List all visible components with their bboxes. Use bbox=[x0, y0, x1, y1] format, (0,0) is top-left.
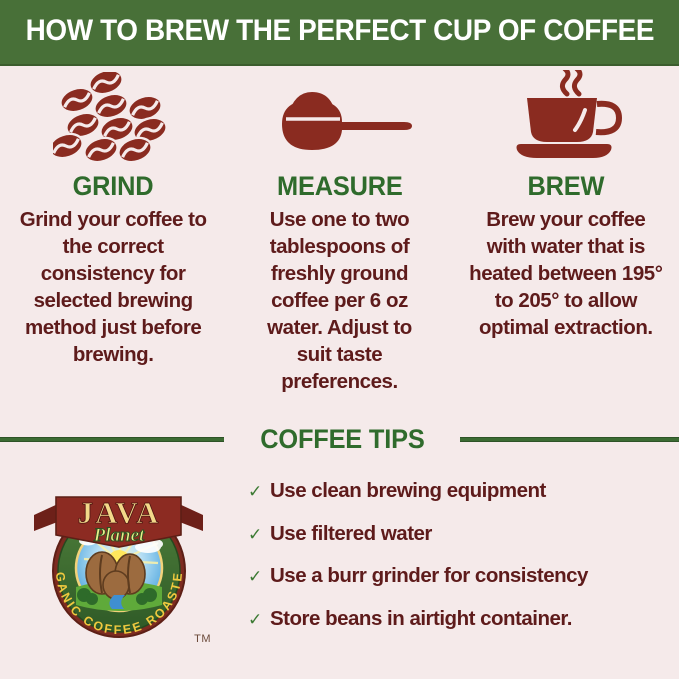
coffee-tips-list: ✓ Use clean brewing equipment ✓ Use filt… bbox=[248, 480, 668, 650]
java-planet-logo: ORGANIC COFFEE ROASTERS JAVA Planet TM bbox=[26, 475, 211, 650]
brew-steps-row: GRIND Grind your coffee to the correct c… bbox=[0, 70, 679, 395]
step-body-measure: Use one to two tablespoons of freshly gr… bbox=[252, 206, 427, 395]
step-measure: MEASURE Use one to two tablespoons of fr… bbox=[226, 70, 452, 395]
tip-text: Use filtered water bbox=[270, 523, 432, 546]
list-item: ✓ Store beans in airtight container. bbox=[248, 608, 668, 631]
logo-brand-script: Planet bbox=[93, 525, 145, 546]
tip-text: Store beans in airtight container. bbox=[270, 608, 572, 631]
check-icon: ✓ bbox=[248, 568, 270, 585]
list-item: ✓ Use clean brewing equipment bbox=[248, 480, 668, 503]
check-icon: ✓ bbox=[248, 611, 270, 628]
trademark-mark: TM bbox=[194, 633, 211, 645]
tip-text: Use a burr grinder for consistency bbox=[270, 565, 588, 588]
header-banner: HOW TO BREW THE PERFECT CUP OF COFFEE bbox=[0, 0, 679, 66]
coffee-cup-icon bbox=[501, 70, 631, 165]
step-body-grind: Grind your coffee to the correct consist… bbox=[11, 206, 216, 368]
tip-text: Use clean brewing equipment bbox=[270, 480, 546, 503]
check-icon: ✓ bbox=[248, 483, 270, 500]
measuring-spoon-icon bbox=[264, 70, 414, 165]
page-title: HOW TO BREW THE PERFECT CUP OF COFFEE bbox=[25, 16, 653, 48]
coffee-tips-title: COFFEE TIPS bbox=[243, 426, 441, 453]
list-item: ✓ Use a burr grinder for consistency bbox=[248, 565, 668, 588]
step-brew: BREW Brew your coffee with water that is… bbox=[453, 70, 679, 341]
coffee-beans-icon bbox=[53, 70, 173, 165]
step-title-brew: BREW bbox=[527, 173, 604, 200]
divider-left bbox=[0, 437, 224, 442]
step-grind: GRIND Grind your coffee to the correct c… bbox=[0, 70, 226, 368]
coffee-tips-heading-row: COFFEE TIPS bbox=[0, 424, 679, 454]
step-title-grind: GRIND bbox=[73, 173, 154, 200]
step-body-brew: Brew your coffee with water that is heat… bbox=[466, 206, 666, 341]
list-item: ✓ Use filtered water bbox=[248, 523, 668, 546]
divider-right bbox=[460, 437, 679, 442]
step-title-measure: MEASURE bbox=[277, 173, 403, 200]
check-icon: ✓ bbox=[248, 526, 270, 543]
